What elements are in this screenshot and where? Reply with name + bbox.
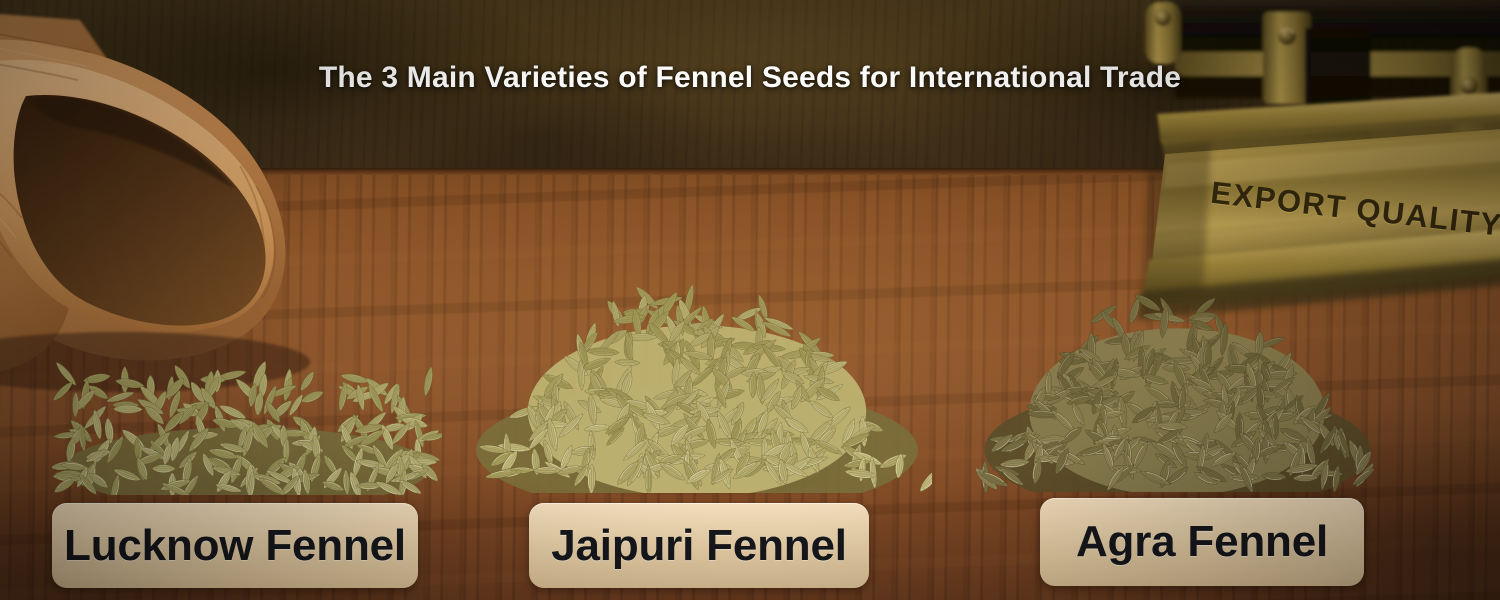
seed-pile-jaipuri — [462, 278, 932, 493]
variety-label-lucknow-text: Lucknow Fennel — [64, 521, 406, 571]
variety-label-jaipuri-text: Jaipuri Fennel — [551, 521, 847, 571]
seed-pile-agra — [972, 282, 1382, 492]
seed-pile-lucknow — [52, 360, 442, 495]
variety-label-jaipuri[interactable]: Jaipuri Fennel — [529, 503, 869, 588]
variety-label-agra[interactable]: Agra Fennel — [1040, 498, 1364, 586]
fennel-varieties-banner: EXPORT QUALITY The 3 Main Varieties of F… — [0, 0, 1500, 600]
variety-label-lucknow[interactable]: Lucknow Fennel — [52, 503, 418, 588]
page-title: The 3 Main Varieties of Fennel Seeds for… — [0, 61, 1500, 95]
variety-label-agra-text: Agra Fennel — [1076, 517, 1328, 567]
